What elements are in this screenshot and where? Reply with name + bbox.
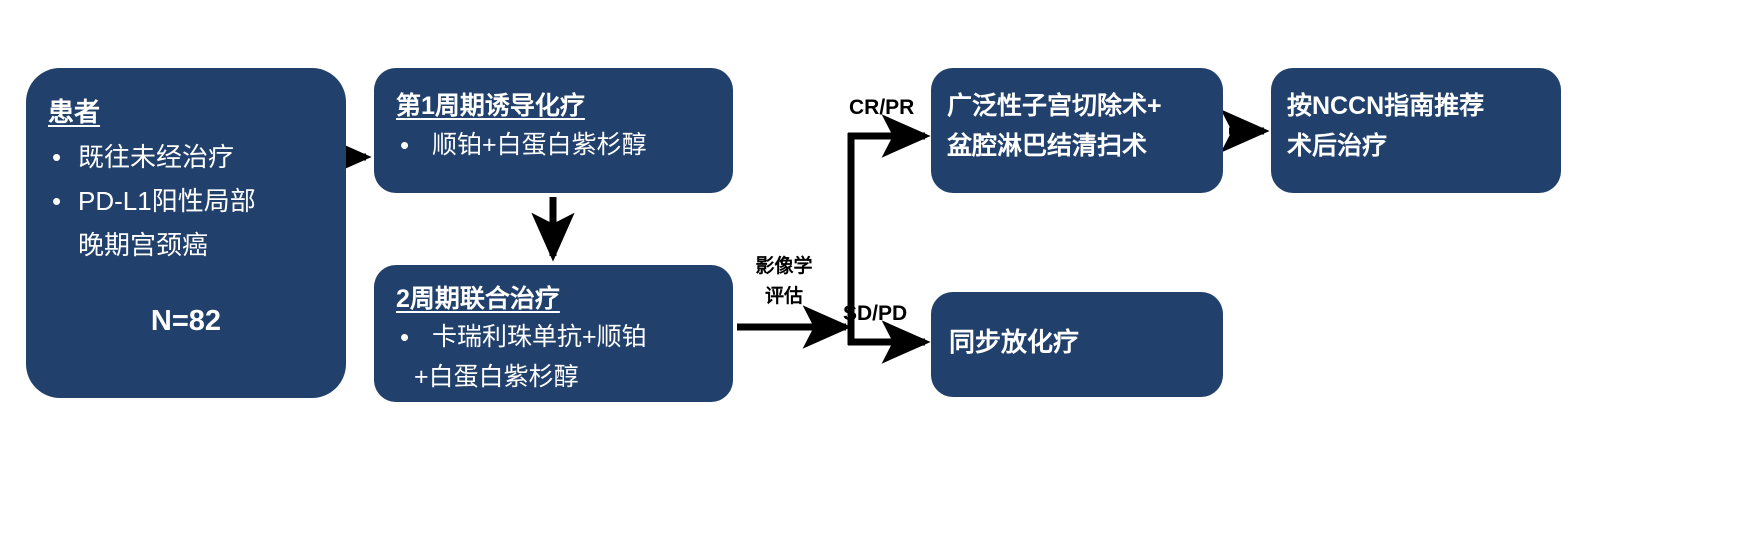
bullet-marker: •: [52, 135, 61, 179]
node-surgery-line1: 广泛性子宫切除术+: [947, 86, 1223, 126]
list-item-label: 顺铂+白蛋白紫杉醇: [432, 131, 647, 159]
node-patient-bullets: • 既往未经治疗 • PD-L1阳性局部 晚期宫颈癌: [48, 135, 346, 267]
list-item: • 顺铂+白蛋白紫杉醇: [396, 124, 733, 166]
list-item-label-continued: 晚期宫颈癌: [78, 223, 346, 267]
sample-size-label: N=82: [26, 305, 346, 338]
node-cycle2-combination-therapy[interactable]: 2周期联合治疗 • 卡瑞利珠单抗+顺铂 +白蛋白紫杉醇: [374, 265, 733, 402]
flowchart-canvas: 患者 • 既往未经治疗 • PD-L1阳性局部 晚期宫颈癌 N=82 第1周期诱…: [0, 0, 1738, 537]
node-cycle1-induction-chemo[interactable]: 第1周期诱导化疗 • 顺铂+白蛋白紫杉醇: [374, 68, 733, 193]
list-item-label-continued: +白蛋白紫杉醇: [414, 357, 733, 397]
node-crt-line1: 同步放化疗: [949, 322, 1223, 362]
list-item: • 既往未经治疗: [48, 135, 346, 179]
bullet-marker: •: [400, 124, 409, 166]
node-radical-hysterectomy[interactable]: 广泛性子宫切除术+ 盆腔淋巴结清扫术: [931, 68, 1223, 193]
edge-label-imaging-line1: 影像学: [748, 252, 820, 282]
edge-label-cr-pr: CR/PR: [849, 96, 914, 120]
node-nccn-adjuvant-therapy[interactable]: 按NCCN指南推荐 术后治疗: [1271, 68, 1561, 193]
node-nccn-line2: 术后治疗: [1287, 126, 1561, 166]
list-item-label: 既往未经治疗: [78, 142, 234, 172]
list-item: • 卡瑞利珠单抗+顺铂 +白蛋白紫杉醇: [396, 317, 733, 397]
node-surgery-line2: 盆腔淋巴结清扫术: [947, 126, 1223, 166]
node-cycle2-title: 2周期联合治疗: [396, 279, 733, 315]
node-cycle2-bullets: • 卡瑞利珠单抗+顺铂 +白蛋白紫杉醇: [396, 317, 733, 397]
bullet-marker: •: [52, 179, 61, 223]
node-patient-title: 患者: [48, 92, 346, 129]
bullet-marker: •: [400, 317, 409, 357]
node-cycle1-title: 第1周期诱导化疗: [396, 86, 733, 122]
node-nccn-text: 按NCCN指南推荐 术后治疗: [1287, 86, 1561, 166]
node-concurrent-chemoradiotherapy[interactable]: 同步放化疗: [931, 292, 1223, 397]
list-item: • PD-L1阳性局部 晚期宫颈癌: [48, 179, 346, 267]
node-cycle1-bullets: • 顺铂+白蛋白紫杉醇: [396, 124, 733, 166]
edge-label-sd-pd: SD/PD: [843, 302, 907, 326]
edge-label-imaging-assessment: 影像学 评估: [748, 252, 820, 312]
node-nccn-line1: 按NCCN指南推荐: [1287, 86, 1561, 126]
node-crt-text: 同步放化疗: [949, 322, 1223, 362]
edge-label-imaging-line2: 评估: [748, 282, 820, 312]
list-item-label: 卡瑞利珠单抗+顺铂: [432, 323, 647, 351]
list-item-label: PD-L1阳性局部: [78, 186, 256, 216]
node-patient[interactable]: 患者 • 既往未经治疗 • PD-L1阳性局部 晚期宫颈癌 N=82: [26, 68, 346, 398]
node-surgery-text: 广泛性子宫切除术+ 盆腔淋巴结清扫术: [947, 86, 1223, 166]
